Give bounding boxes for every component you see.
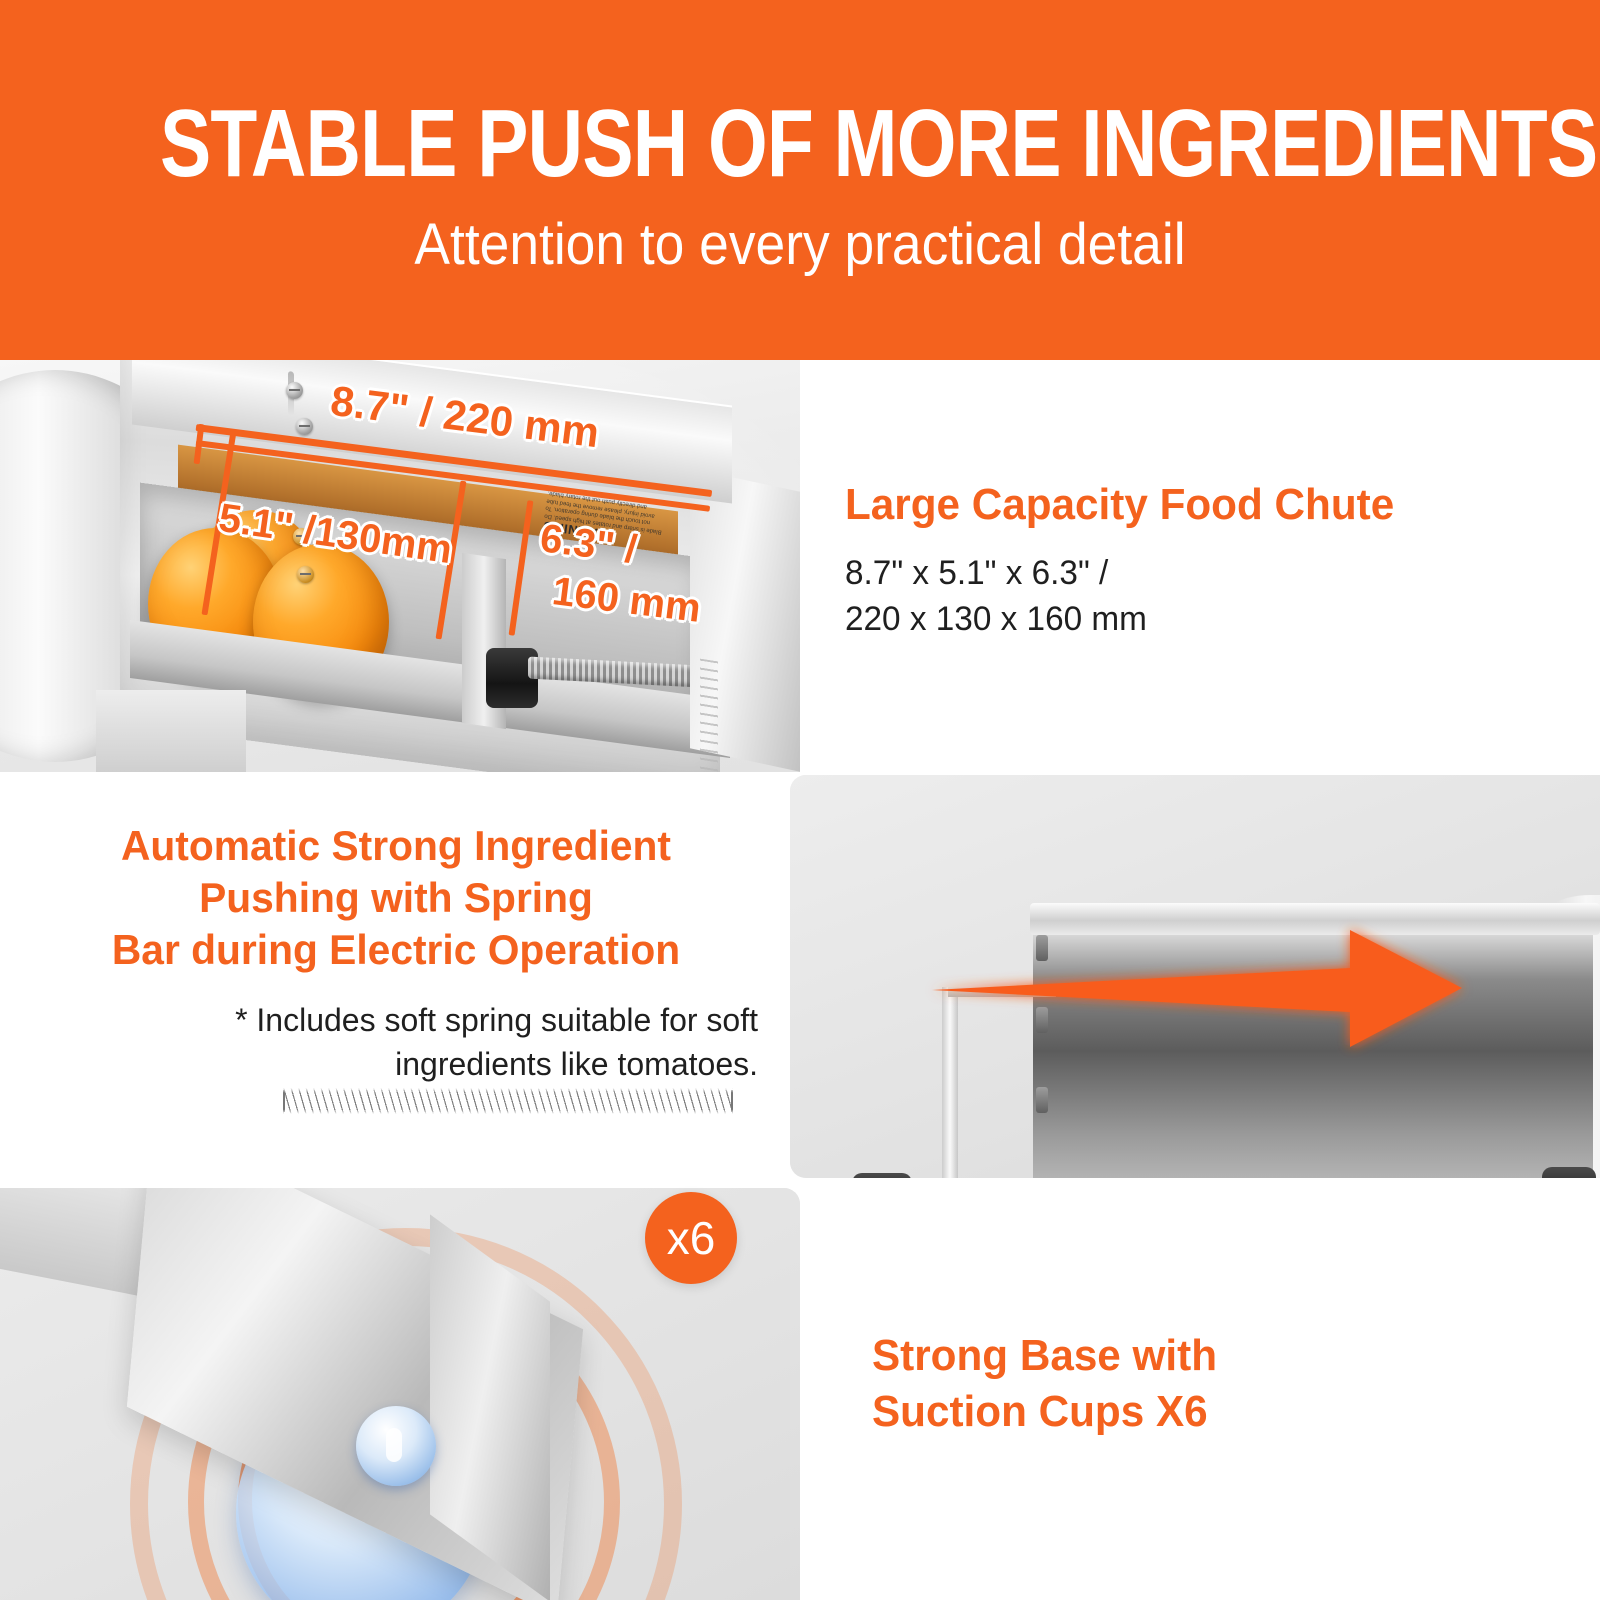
suction-base-title: Strong Base with Suction Cups X6 bbox=[872, 1328, 1506, 1440]
header-banner: STABLE PUSH OF MORE INGREDIENTS Attentio… bbox=[0, 0, 1600, 360]
spring-bar-text-block: Automatic Strong Ingredient Pushing with… bbox=[28, 820, 764, 1086]
left-guide-plate bbox=[942, 987, 958, 1178]
suction-base-text-block: Strong Base with Suction Cups X6 bbox=[872, 1328, 1532, 1440]
screw-icon bbox=[296, 418, 313, 435]
hinge-icon bbox=[1036, 1087, 1048, 1113]
spring-bar-photo bbox=[790, 775, 1600, 1178]
adjustment-knob bbox=[852, 1173, 912, 1178]
ruler-markings bbox=[700, 659, 718, 772]
rod-end-cap bbox=[1542, 1167, 1596, 1178]
suction-base-title-line-2: Suction Cups X6 bbox=[872, 1384, 1506, 1440]
spring-bar-title-line-2: Pushing with Spring bbox=[39, 872, 753, 924]
infographic-page: STABLE PUSH OF MORE INGREDIENTS Attentio… bbox=[0, 0, 1600, 1600]
spring-bar-title: Automatic Strong Ingredient Pushing with… bbox=[39, 820, 753, 976]
hinge-icon bbox=[1036, 1007, 1048, 1033]
spring-bar-note-line-2: ingredients like tomatoes. bbox=[28, 1042, 758, 1086]
food-chute-text-block: Large Capacity Food Chute 8.7" x 5.1" x … bbox=[845, 478, 1545, 642]
drum-top-lip bbox=[1030, 903, 1600, 935]
stainless-drum-panel bbox=[1033, 925, 1593, 1178]
food-chute-body-line-1: 8.7" x 5.1" x 6.3" / bbox=[845, 550, 1531, 596]
food-chute-body: 8.7" x 5.1" x 6.3" / 220 x 130 x 160 mm bbox=[845, 550, 1531, 642]
quantity-badge-x6: x6 bbox=[645, 1192, 737, 1284]
suction-cup-stem bbox=[356, 1406, 436, 1486]
header-subtitle: Attention to every practical detail bbox=[64, 214, 1536, 276]
coil-spring-graphic bbox=[283, 1088, 733, 1114]
hinge-icon bbox=[1036, 935, 1048, 961]
spring-bar-title-line-1: Automatic Strong Ingredient bbox=[39, 820, 753, 872]
food-chute-body-line-2: 220 x 130 x 160 mm bbox=[845, 596, 1531, 642]
left-guide-plate-top bbox=[948, 987, 1056, 997]
screw-icon bbox=[297, 566, 314, 583]
screw-icon bbox=[286, 382, 303, 399]
spring-bar-note-line-1: * Includes soft spring suitable for soft bbox=[28, 998, 758, 1042]
spring-bar-note: * Includes soft spring suitable for soft… bbox=[28, 998, 764, 1086]
food-chute-title: Large Capacity Food Chute bbox=[845, 478, 1517, 532]
header-title: STABLE PUSH OF MORE INGREDIENTS bbox=[160, 96, 1440, 192]
base-plate bbox=[96, 690, 246, 772]
suction-base-title-line-1: Strong Base with bbox=[872, 1328, 1506, 1384]
spring-bar-title-line-3: Bar during Electric Operation bbox=[39, 924, 753, 976]
